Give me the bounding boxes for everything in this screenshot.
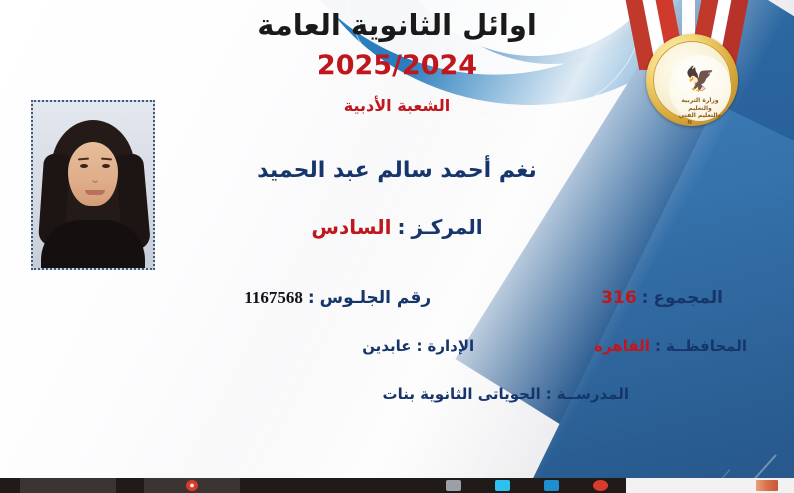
- gray-app-icon[interactable]: [446, 480, 461, 491]
- governorate-label: المحافظــة: [666, 337, 747, 355]
- school-colon: :: [541, 385, 557, 403]
- rank-row: المركـز:السادس: [0, 215, 794, 239]
- info-row-school: المدرســة : الحوياتى الثانوية بنات: [47, 385, 747, 403]
- certificate-content: اوائل الثانوية العامة 2025/2024 الشعبة ا…: [0, 0, 794, 478]
- taskbar[interactable]: [0, 478, 794, 493]
- seat-number-label: رقم الجلـوس: [320, 288, 432, 308]
- administration-value: عابدين: [362, 337, 411, 355]
- field-school: المدرســة : الحوياتى الثانوية بنات: [383, 385, 630, 403]
- page-title: اوائل الثانوية العامة: [0, 8, 794, 42]
- governorate-colon: :: [650, 337, 666, 355]
- taskbar-window-1[interactable]: [144, 478, 240, 493]
- red-circle-icon[interactable]: [593, 480, 608, 491]
- taskbar-pinned-apps[interactable]: [446, 480, 626, 491]
- certificate-slide: MINISTRY OF EDUCATION AND TECHNICAL EDUC…: [0, 0, 794, 478]
- field-governorate: المحافظــة : القاهرة: [594, 337, 747, 355]
- academic-year: 2025/2024: [0, 50, 794, 81]
- total-colon: :: [637, 288, 654, 308]
- rank-colon: :: [391, 215, 411, 239]
- governorate-value: القاهرة: [594, 337, 650, 355]
- field-seat-number: رقم الجلـوس : 1167568: [244, 288, 431, 308]
- rank-value: السادس: [311, 215, 391, 239]
- screen: MINISTRY OF EDUCATION AND TECHNICAL EDUC…: [0, 0, 794, 493]
- student-name: نغم أحمد سالم عبد الحميد: [0, 158, 794, 183]
- taskbar-window-buttons[interactable]: [0, 478, 240, 493]
- rank-label: المركـز: [411, 215, 482, 239]
- seat-number-colon: :: [303, 288, 320, 308]
- total-label: المجموع: [653, 288, 723, 308]
- administration-label: الإدارة: [428, 337, 475, 355]
- taskbar-window-2[interactable]: [20, 478, 116, 493]
- chrome-icon[interactable]: [186, 480, 198, 491]
- section-label: الشعبة الأدبية: [0, 96, 794, 115]
- field-total: المجموع : 316: [601, 288, 723, 308]
- total-value: 316: [601, 288, 637, 308]
- field-administration: الإدارة : عابدين: [362, 337, 474, 355]
- school-label: المدرســة: [557, 385, 629, 403]
- info-row-total-seat: المجموع : 316 رقم الجلـوس : 1167568: [47, 288, 747, 308]
- info-row-governorate-admin: المحافظــة : القاهرة الإدارة : عابدين: [47, 337, 747, 355]
- start-button[interactable]: [626, 478, 794, 493]
- cyan-app-icon[interactable]: [495, 480, 510, 491]
- seat-number-value: 1167568: [244, 288, 303, 308]
- administration-colon: :: [412, 337, 428, 355]
- school-value: الحوياتى الثانوية بنات: [383, 385, 541, 403]
- windows-start-icon[interactable]: [756, 480, 778, 491]
- blue-app-icon[interactable]: [544, 480, 559, 491]
